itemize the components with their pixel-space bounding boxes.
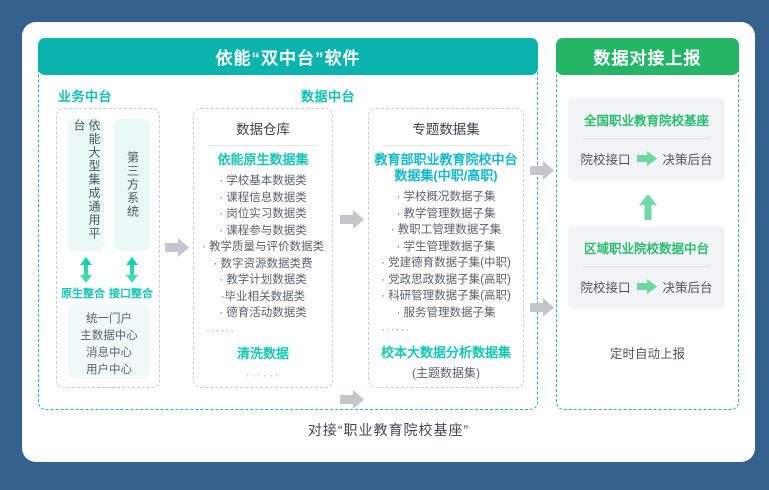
platform-box-native-label: 依能大型集成通用平台 [71,119,101,251]
section-label-business: 业务中台 [58,86,112,105]
bidirectional-arrow-native-icon [79,257,93,283]
flow-right-label: 决策后台 [663,277,713,296]
column-thematic-title: 专题数据集 [369,109,523,145]
list-item: · 服务管理数据子集 [373,305,519,322]
card-national-base: 全国职业教育院校基座 院校接口 决策后台 [568,98,725,181]
card-regional-platform-flow: 院校接口 决策后台 [568,267,725,309]
warehouse-subhead: 依能原生数据集 [194,152,332,168]
flow-left-label: 院校接口 [580,277,630,296]
flow-arrow-icon [637,279,657,294]
card-regional-platform-title: 区域职业院校数据中台 [568,226,725,257]
list-item: · 教学质量与评价数据类 [198,239,328,256]
thematic-footer-line1: 校本大数据分析数据集 [369,345,523,361]
thematic-subhead-line2: 数据集(中职/高职) [369,168,523,184]
list-item: ·毕业相关数据类 [198,289,328,306]
warehouse-footer-label: 清洗数据 [194,346,332,362]
card-regional-platform: 区域职业院校数据中台 院校接口 决策后台 [568,226,725,309]
platform-box-thirdparty: 第三方系统 [114,119,150,251]
bidirectional-arrow-interface-icon [125,257,139,283]
left-panel: 依能“双中台”软件 业务中台 数据中台 依能大型集成通用平台 第三方系统 [38,38,538,410]
flow-arrow-business-to-warehouse-icon [165,238,189,257]
warehouse-item-list: · 学校基本数据类 · 课程信息数据类 · 岗位实习数据类 · 课程参与数据类 … [194,173,332,322]
service-item: 统一门户 [68,311,150,328]
diagram-canvas: 依能“双中台”软件 业务中台 数据中台 依能大型集成通用平台 第三方系统 [0,0,769,490]
warehouse-more: ······ [194,322,332,340]
auto-report-note: 定时自动上报 [556,343,739,362]
upload-arrow-up-icon [639,194,657,220]
divider [383,145,509,146]
flow-left-label: 院校接口 [580,149,630,168]
list-item: · 德育活动数据类 [198,305,328,322]
list-item: · 党建德育数据子集(中职) [373,255,519,272]
column-thematic-dataset: 专题数据集 教育部职业教育院校中台 数据集(中职/高职) · 学校概况数据子集 … [368,108,524,388]
service-item: 用户中心 [68,362,150,379]
column-data-warehouse: 数据仓库 依能原生数据集 · 学校基本数据类 · 课程信息数据类 · 岗位实习数… [193,108,333,388]
divider [208,145,318,146]
list-item: · 岗位实习数据类 [198,206,328,223]
list-item: · 学生管理数据子集 [373,239,519,256]
list-item: · 教学管理数据子集 [373,206,519,223]
list-item: · 科研管理数据子集(高职) [373,288,519,305]
thematic-footer-line2: (主题数据集) [369,366,523,381]
warehouse-footer-dots: ······ [194,367,332,385]
right-panel: 数据对接上报 全国职业教育院校基座 院校接口 决策后台 区域职业院校数据中台 [556,38,739,410]
platform-box-native: 依能大型集成通用平台 [68,119,104,251]
card-national-base-flow: 院校接口 决策后台 [568,139,725,181]
section-label-data: 数据中台 [301,86,355,105]
white-card: 依能“双中台”软件 业务中台 数据中台 依能大型集成通用平台 第三方系统 [22,22,755,462]
thematic-subhead-line1: 教育部职业教育院校中台 [369,152,523,168]
label-interface-integration: 接口整合 [109,285,153,301]
service-item: 消息中心 [68,345,150,362]
right-panel-header: 数据对接上报 [556,38,739,75]
list-item: · 党政思政数据子集(高职) [373,272,519,289]
list-item: · 数字资源数据类费 [198,256,328,273]
flow-arrow-icon [637,151,657,166]
list-item: · 课程信息数据类 [198,190,328,207]
thematic-item-list: · 学校概况数据子集 · 教学管理数据子集 · 教职工管理数据子集 · 学生管理… [369,189,523,321]
left-panel-header: 依能“双中台”软件 [38,38,538,75]
list-item: · 学校基本数据类 [198,173,328,190]
footer-note: 对接“职业教育院校基座” [22,420,755,440]
label-native-integration: 原生整合 [61,285,105,301]
flow-right-label: 决策后台 [663,149,713,168]
flow-arrow-to-national-base-icon [530,161,554,180]
service-center-list: 统一门户 主数据中心 消息中心 用户中心 ······ [68,304,150,379]
thematic-more: ······ [369,321,523,339]
list-item: · 课程参与数据类 [198,223,328,240]
list-item: · 教学计划数据类 [198,272,328,289]
list-item: · 学校概况数据子集 [373,189,519,206]
list-item: · 教职工管理数据子集 [373,222,519,239]
service-item: 主数据中心 [68,328,150,345]
flow-arrow-warehouse-to-thematic-top-icon [340,210,364,229]
flow-arrow-to-regional-platform-icon [530,298,554,317]
service-more: ······ [68,379,150,396]
flow-arrow-warehouse-to-thematic-bottom-icon [340,390,364,409]
card-national-base-title: 全国职业教育院校基座 [568,98,725,129]
column-data-warehouse-title: 数据仓库 [194,109,332,145]
column-business: 依能大型集成通用平台 第三方系统 原生整合 接口整合 [56,108,160,388]
platform-box-thirdparty-label: 第三方系统 [125,151,140,219]
